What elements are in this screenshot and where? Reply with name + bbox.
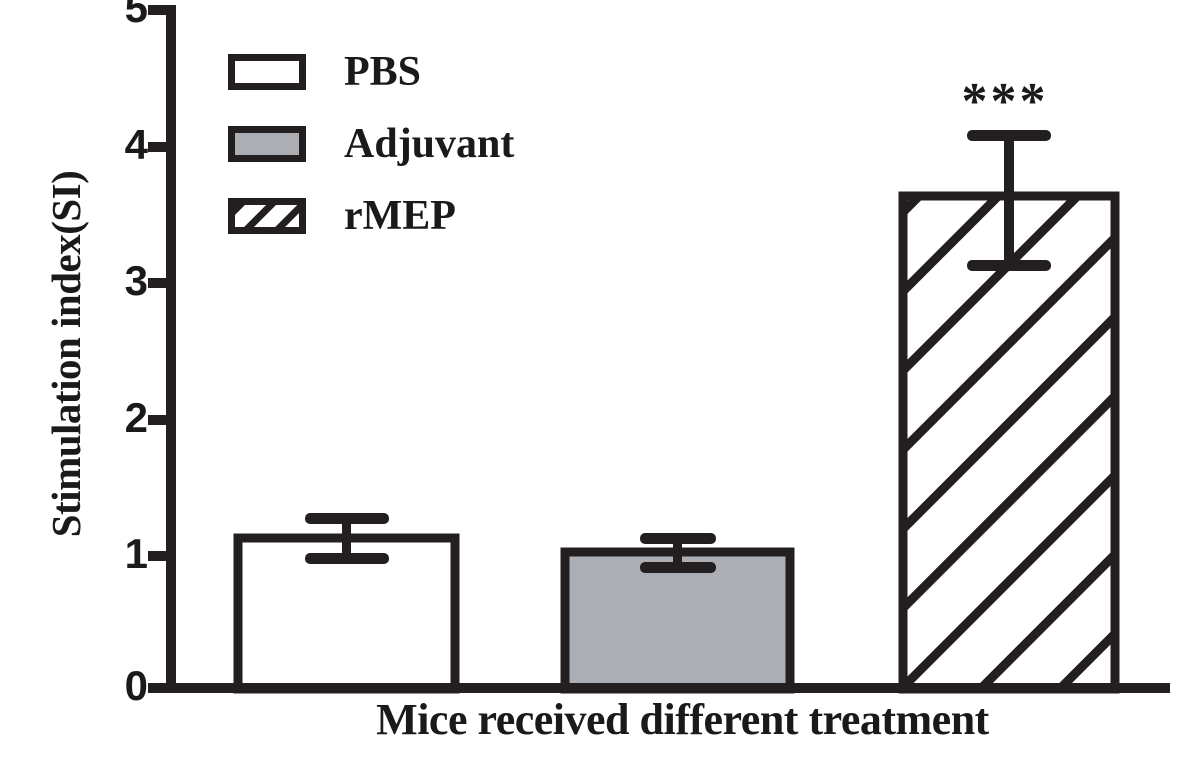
- significance-annotation: ***: [945, 76, 1065, 128]
- bar-rmep: [903, 130, 1115, 689]
- x-axis-title: Mice received different treatment: [195, 694, 1170, 745]
- legend-label-adjuvant: Adjuvant: [344, 123, 514, 165]
- bar-adjuvant: [565, 533, 790, 689]
- y-tick-label-1: 1: [104, 533, 148, 575]
- bar-chart-figure: 5 4 3 2 1 0 Stimulation index(SI) Mice r…: [0, 0, 1200, 779]
- legend-item-pbs: PBS: [228, 42, 514, 102]
- y-axis-title: Stimulation index(SI): [42, 44, 90, 664]
- y-tick-label-4: 4: [104, 124, 148, 166]
- y-tick-label-0: 0: [104, 665, 148, 707]
- legend-label-pbs: PBS: [344, 51, 421, 93]
- y-tick-label-2: 2: [104, 397, 148, 439]
- chart-legend: PBS Adjuvant rMEP: [228, 42, 514, 258]
- y-tick-label-3: 3: [104, 260, 148, 302]
- bar-pbs: [238, 513, 455, 689]
- legend-label-rmep: rMEP: [344, 195, 456, 237]
- legend-swatch-pbs-icon: [228, 54, 306, 90]
- legend-swatch-adjuvant-icon: [228, 126, 306, 162]
- x-axis-spine: [166, 683, 1170, 693]
- y-tick-label-5: 5: [104, 0, 148, 29]
- legend-swatch-rmep-icon: [228, 198, 306, 234]
- legend-item-rmep: rMEP: [228, 186, 514, 246]
- y-axis-tick-labels: 5 4 3 2 1 0: [100, 0, 148, 779]
- legend-item-adjuvant: Adjuvant: [228, 114, 514, 174]
- y-axis-spine: [166, 5, 176, 693]
